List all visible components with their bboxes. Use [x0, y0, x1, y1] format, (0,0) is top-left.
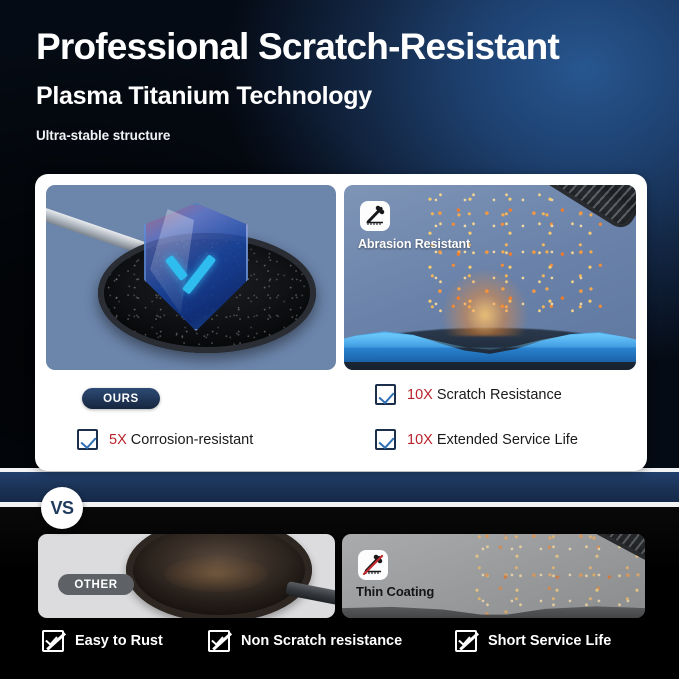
feature-row: 10X Extended Service Life — [375, 429, 578, 450]
drawback-item: Easy to Rust — [42, 630, 163, 652]
feature-label: 10X Extended Service Life — [407, 432, 578, 448]
check-box-icon — [375, 384, 396, 405]
other-thin-coating-panel: Thin Coating — [342, 534, 645, 618]
ours-badge: OURS — [82, 388, 160, 409]
feature-row: 10X Scratch Resistance — [375, 384, 562, 405]
feature-row: 5X Corrosion-resistant — [77, 429, 253, 450]
page-title: Professional Scratch-Resistant — [36, 26, 559, 68]
feature-text: Extended Service Life — [437, 432, 578, 448]
feature-multiplier: 10X — [407, 387, 433, 403]
check-box-icon — [375, 429, 396, 450]
divider-edge-bottom — [0, 502, 679, 507]
page-tagline: Ultra-stable structure — [36, 128, 170, 143]
drawback-label: Short Service Life — [488, 633, 611, 649]
ours-panel-label: Abrasion Resistant — [358, 237, 470, 251]
feature-label: 5X Corrosion-resistant — [109, 432, 253, 448]
feature-text: Scratch Resistance — [437, 387, 562, 403]
check-icon — [170, 243, 222, 277]
divider-blue-band — [0, 472, 679, 502]
ours-image-panels: Abrasion Resistant — [46, 185, 636, 370]
feature-multiplier: 5X — [109, 432, 127, 448]
drawback-item: Non Scratch resistance — [208, 630, 402, 652]
check-box-icon — [77, 429, 98, 450]
drawbacks-row: Easy to Rust Non Scratch resistance Shor… — [0, 630, 679, 670]
feature-multiplier: 10X — [407, 432, 433, 448]
product-feature-graphic: Professional Scratch-Resistant Plasma Ti… — [0, 0, 679, 679]
abrasion-icon-crossed-out — [358, 550, 388, 580]
other-badge: OTHER — [58, 574, 134, 595]
crossed-check-box-icon — [208, 630, 230, 652]
ours-pan-shield-panel — [46, 185, 336, 370]
ours-card: Abrasion Resistant OURS 10X Scratch Resi… — [35, 174, 647, 471]
feature-label: 10X Scratch Resistance — [407, 387, 562, 403]
drawback-item: Short Service Life — [455, 630, 611, 652]
other-panel-label: Thin Coating — [356, 584, 434, 599]
drawback-label: Easy to Rust — [75, 633, 163, 649]
spark-burst-glow — [440, 266, 530, 336]
vs-badge: VS — [41, 487, 83, 529]
page-subtitle: Plasma Titanium Technology — [36, 82, 372, 111]
drawback-label: Non Scratch resistance — [241, 633, 402, 649]
other-pan-panel: OTHER — [38, 534, 335, 618]
feature-text: Corrosion-resistant — [131, 432, 254, 448]
crossed-check-box-icon — [42, 630, 64, 652]
abrasion-icon — [360, 201, 390, 231]
crossed-check-box-icon — [455, 630, 477, 652]
rusty-pan-rim — [126, 534, 312, 618]
ours-abrasion-panel: Abrasion Resistant — [344, 185, 636, 370]
rusty-pan-handle — [285, 581, 335, 609]
